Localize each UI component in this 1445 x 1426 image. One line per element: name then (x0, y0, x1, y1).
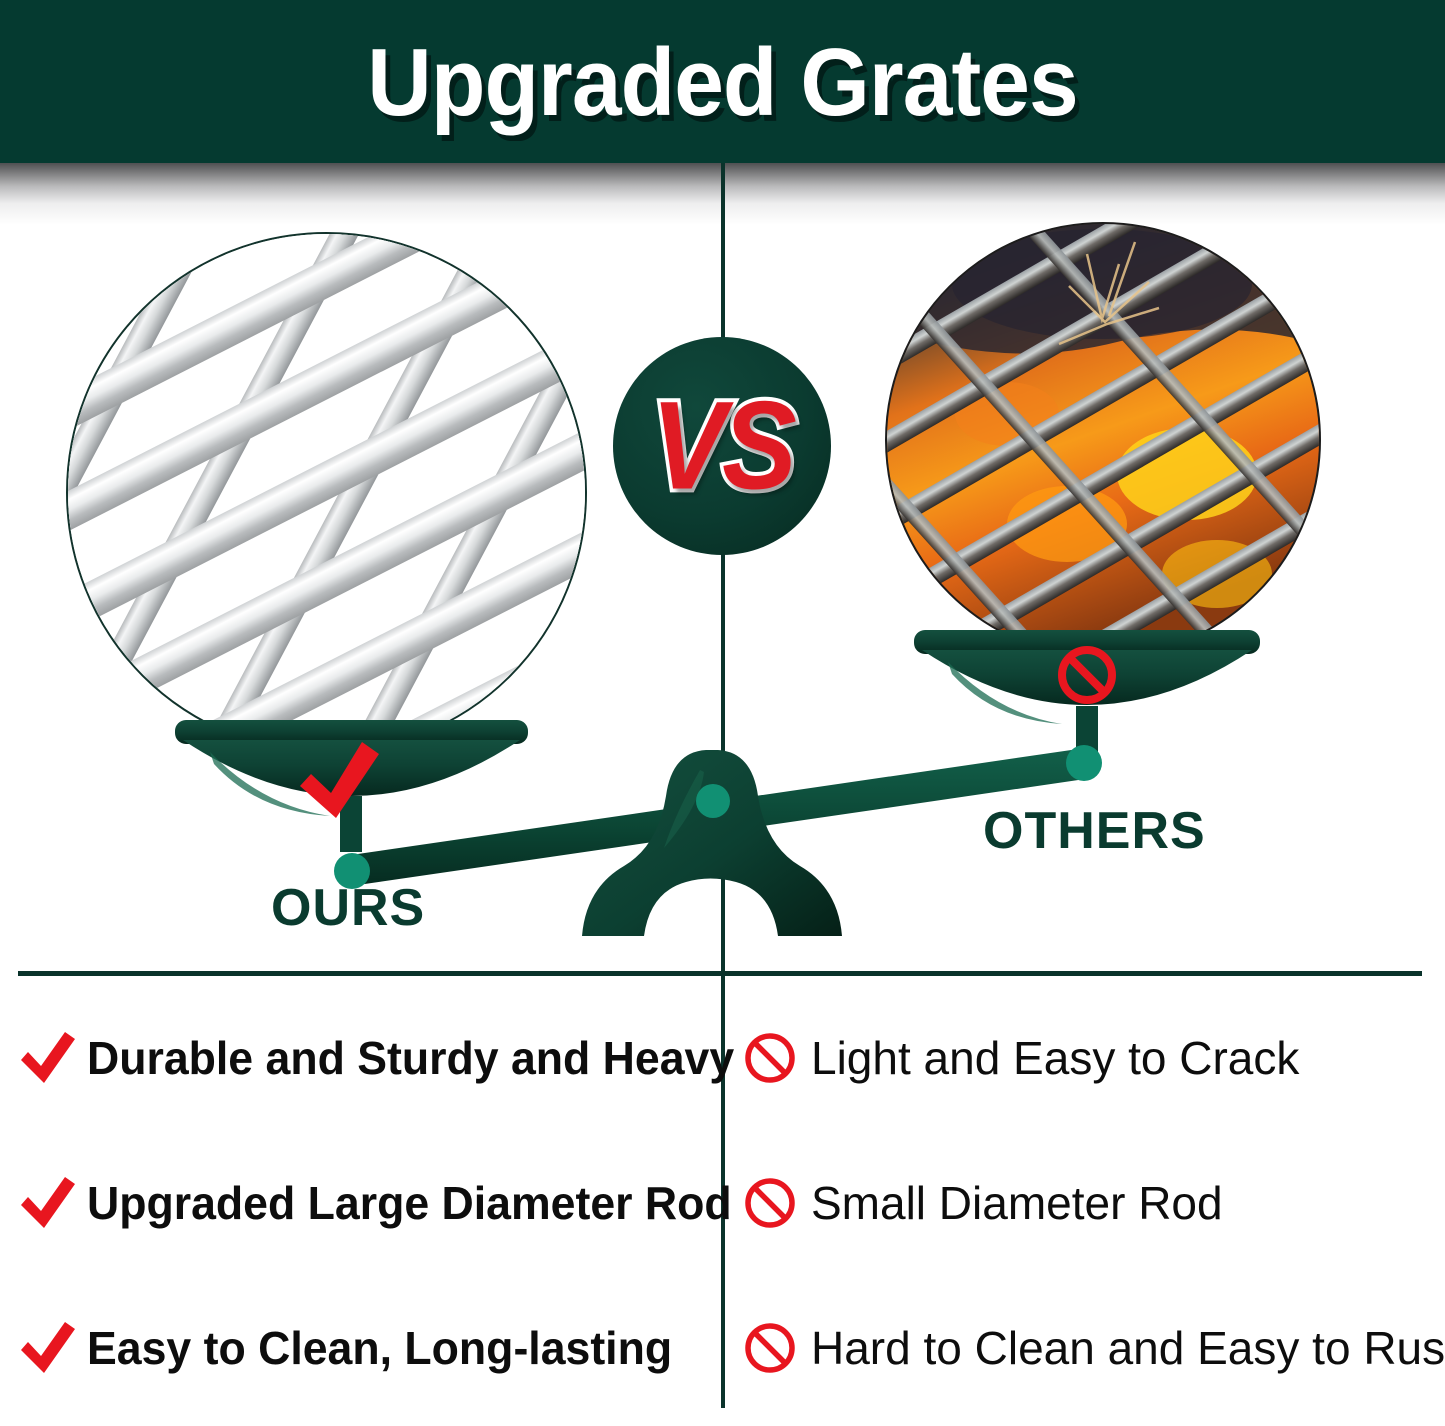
prohibition-icon (743, 1176, 797, 1230)
check-icon (17, 1317, 79, 1379)
feature-pro-text: Upgraded Large Diameter Rod (87, 1178, 732, 1228)
beam-right-pivot (1066, 745, 1102, 781)
others-label: OTHERS (983, 803, 1206, 859)
check-icon (17, 1172, 79, 1234)
feature-con-text: Light and Easy to Crack (811, 1033, 1299, 1083)
burnt-grate-illustration (887, 224, 1319, 656)
check-icon (17, 1027, 79, 1089)
feature-pro-text: Easy to Clean, Long-lasting (87, 1323, 672, 1373)
feature-row: Easy to Clean, Long-lasting Hard to Clea… (0, 1285, 1445, 1410)
feature-con-cell: Hard to Clean and Easy to Rust (721, 1285, 1445, 1410)
balance-scale (0, 600, 1445, 980)
feature-row: Durable and Sturdy and Heavy Light and E… (0, 995, 1445, 1120)
feature-pro-text: Durable and Sturdy and Heavy (87, 1033, 734, 1083)
feature-con-text: Hard to Clean and Easy to Rust (811, 1323, 1445, 1373)
others-product-image (885, 222, 1321, 658)
feature-con-cell: Small Diameter Rod (721, 1140, 1445, 1265)
prohibition-icon (743, 1321, 797, 1375)
fulcrum-pivot (696, 784, 730, 818)
vs-label: VS (651, 383, 792, 508)
others-scale-pan (914, 630, 1260, 752)
feature-row: Upgraded Large Diameter Rod Small Diamet… (0, 1140, 1445, 1265)
page-title: Upgraded Grates (51, 31, 1395, 135)
comparison-infographic: Upgraded Grates (0, 0, 1445, 1426)
feature-comparison-list: Durable and Sturdy and Heavy Light and E… (0, 985, 1445, 1415)
ours-label: OURS (271, 880, 425, 936)
prohibition-icon (743, 1031, 797, 1085)
ours-scale-pan (175, 720, 528, 852)
feature-con-text: Small Diameter Rod (811, 1178, 1223, 1228)
feature-pro-cell: Upgraded Large Diameter Rod (0, 1140, 721, 1265)
feature-pro-cell: Easy to Clean, Long-lasting (0, 1285, 721, 1410)
feature-con-cell: Light and Easy to Crack (721, 995, 1445, 1120)
vs-badge: VS (613, 337, 831, 555)
feature-pro-cell: Durable and Sturdy and Heavy (0, 995, 721, 1120)
